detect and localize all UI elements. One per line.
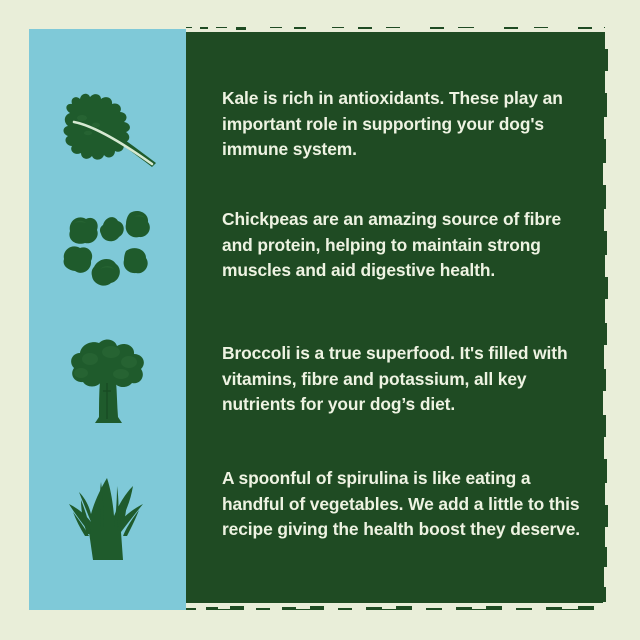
broccoli-benefit-text: Broccoli is a true superfood. It's fille… (222, 341, 590, 418)
chickpeas-benefit-text: Chickpeas are an amazing source of fibre… (222, 207, 590, 284)
kale-icon-cell (48, 82, 168, 172)
spirulina-icon (61, 470, 155, 570)
spirulina-benefit-text: A spoonful of spirulina is like eating a… (222, 466, 590, 543)
kale-leaf-icon (52, 85, 164, 169)
spirulina-icon-cell (48, 470, 168, 570)
broccoli-icon-cell (48, 333, 168, 428)
ingredient-benefits-poster: Kale is rich in antioxidants. These play… (0, 0, 640, 640)
kale-benefit-text: Kale is rich in antioxidants. These play… (222, 86, 590, 163)
broccoli-icon (59, 335, 157, 427)
chickpeas-icon (56, 205, 160, 291)
chickpeas-icon-cell (48, 203, 168, 293)
